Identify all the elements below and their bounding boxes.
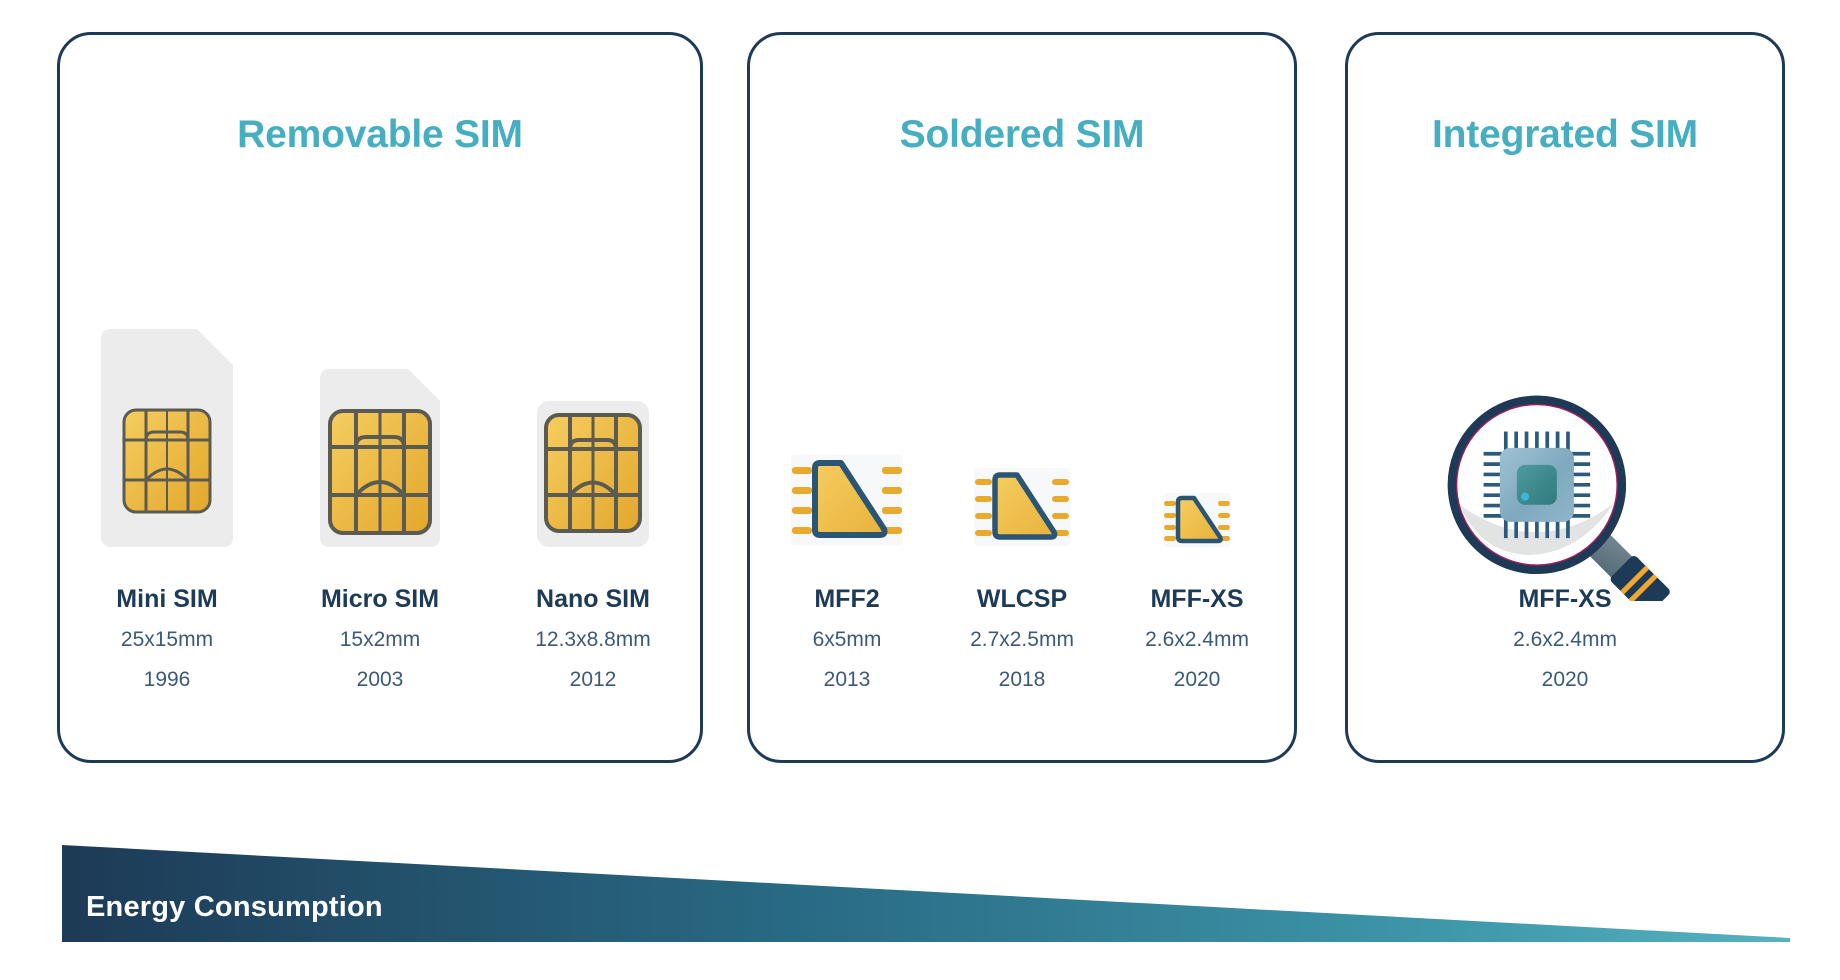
item-name: WLCSP	[977, 585, 1067, 614]
item-year: 2020	[1174, 668, 1221, 692]
energy-consumption-label: Energy Consumption	[86, 891, 383, 924]
mffxs-chip-icon	[1160, 327, 1234, 549]
card-soldered-sim: Soldered SIM	[747, 32, 1297, 763]
item-year: 1996	[144, 668, 191, 692]
item-year: 2018	[999, 668, 1046, 692]
card-title-soldered: Soldered SIM	[750, 113, 1294, 157]
magnifier-microchip-icon	[1375, 327, 1755, 549]
item-wlcsp[interactable]: WLCSP 2.7x2.5mm 2018	[935, 327, 1110, 692]
item-name: MFF-XS	[1518, 585, 1611, 614]
item-size: 2.6x2.4mm	[1145, 628, 1249, 652]
nano-sim-card-icon	[534, 327, 652, 549]
item-year: 2020	[1542, 668, 1589, 692]
item-year: 2012	[570, 668, 617, 692]
item-list-integrated: MFF-XS 2.6x2.4mm 2020	[1348, 327, 1782, 692]
card-removable-sim: Removable SIM	[57, 32, 703, 763]
item-year: 2013	[824, 668, 871, 692]
card-title-integrated: Integrated SIM	[1348, 113, 1782, 157]
item-name: MFF-XS	[1150, 585, 1243, 614]
item-name: Mini SIM	[116, 585, 217, 614]
item-year: 2003	[357, 668, 404, 692]
item-size: 6x5mm	[813, 628, 882, 652]
item-name: MFF2	[814, 585, 879, 614]
item-name: Micro SIM	[321, 585, 439, 614]
mini-sim-card-icon	[97, 327, 237, 549]
item-mini-sim[interactable]: Mini SIM 25x15mm 1996	[61, 327, 274, 692]
mff2-chip-icon	[786, 327, 908, 549]
micro-sim-card-icon	[316, 327, 444, 549]
item-list-soldered: MFF2 6x5mm 2013	[750, 327, 1294, 692]
item-nano-sim[interactable]: Nano SIM 12.3x8.8mm 2012	[487, 327, 700, 692]
item-micro-sim[interactable]: Micro SIM 15x2mm 2003	[274, 327, 487, 692]
item-integrated-mff-xs[interactable]: MFF-XS 2.6x2.4mm 2020	[1375, 327, 1755, 692]
wlcsp-chip-icon	[970, 327, 1074, 549]
item-name: Nano SIM	[536, 585, 650, 614]
item-size: 15x2mm	[340, 628, 421, 652]
item-size: 25x15mm	[121, 628, 213, 652]
card-title-removable: Removable SIM	[60, 113, 700, 157]
item-list-removable: Mini SIM 25x15mm 1996	[60, 327, 700, 692]
card-integrated-sim: Integrated SIM	[1345, 32, 1785, 763]
item-mff-xs[interactable]: MFF-XS 2.6x2.4mm 2020	[1110, 327, 1285, 692]
item-size: 2.6x2.4mm	[1513, 628, 1617, 652]
item-size: 2.7x2.5mm	[970, 628, 1074, 652]
item-mff2[interactable]: MFF2 6x5mm 2013	[760, 327, 935, 692]
item-size: 12.3x8.8mm	[535, 628, 651, 652]
